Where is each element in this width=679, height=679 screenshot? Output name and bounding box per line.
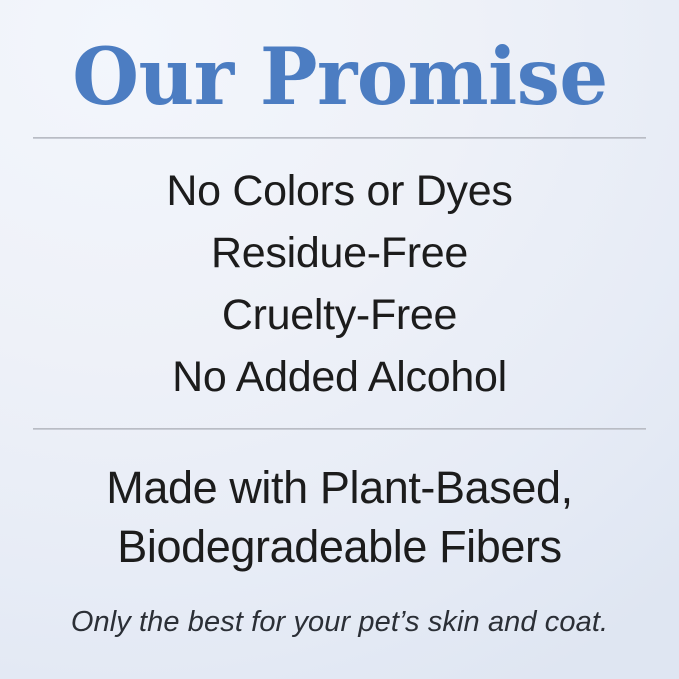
- claims-list: No Colors or Dyes Residue-Free Cruelty-F…: [0, 160, 679, 408]
- divider-top: [33, 137, 646, 139]
- list-item: Cruelty-Free: [0, 284, 679, 346]
- list-item: No Added Alcohol: [0, 346, 679, 408]
- materials-line: Made with Plant-Based,: [0, 458, 679, 517]
- tagline: Only the best for your pet’s skin and co…: [0, 604, 679, 640]
- list-item: Residue-Free: [0, 222, 679, 284]
- materials-statement: Made with Plant-Based, Biodegradeable Fi…: [0, 458, 679, 576]
- materials-line: Biodegradeable Fibers: [0, 517, 679, 576]
- page-title: Our Promise: [72, 37, 607, 116]
- title-zone: Our Promise: [0, 28, 679, 124]
- our-promise-card: Our Promise No Colors or Dyes Residue-Fr…: [0, 0, 679, 679]
- list-item: No Colors or Dyes: [0, 160, 679, 222]
- divider-bottom: [33, 428, 646, 430]
